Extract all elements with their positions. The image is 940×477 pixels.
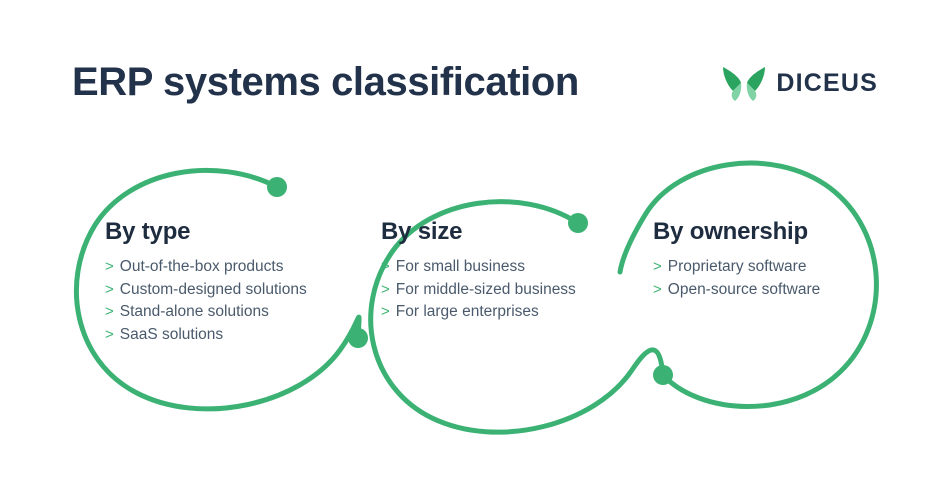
group-list-by-ownership: > Proprietary software > Open-source sof… [653, 256, 820, 301]
list-item-label: Custom-designed solutions [120, 279, 307, 302]
list-item: > Custom-designed solutions [105, 279, 307, 302]
list-item: > For small business [381, 256, 576, 279]
group-list-by-size: > For small business > For middle-sized … [381, 256, 576, 324]
list-item-label: SaaS solutions [120, 324, 223, 347]
group-by-ownership: By ownership > Proprietary software > Op… [653, 218, 820, 301]
list-item: > For middle-sized business [381, 279, 576, 302]
list-item-label: For small business [396, 256, 525, 279]
diceus-butterfly-mark [721, 63, 767, 103]
list-item: > Open-source software [653, 279, 820, 302]
chevron-right-icon: > [381, 279, 390, 302]
group-by-type: By type > Out-of-the-box products > Cust… [105, 218, 307, 346]
list-item-label: For large enterprises [396, 301, 539, 324]
chevron-right-icon: > [105, 279, 114, 302]
group-title-by-size: By size [381, 218, 576, 246]
list-item-label: Stand-alone solutions [120, 301, 269, 324]
list-item-label: Proprietary software [668, 256, 807, 279]
curve-endpoint-dot-1 [267, 177, 287, 197]
group-title-by-ownership: By ownership [653, 218, 820, 246]
list-item-label: Out-of-the-box products [120, 256, 284, 279]
chevron-right-icon: > [381, 301, 390, 324]
group-title-by-type: By type [105, 218, 307, 246]
chevron-right-icon: > [653, 279, 662, 302]
curve-endpoint-dot-2 [348, 328, 368, 348]
chevron-right-icon: > [105, 256, 114, 279]
page-title: ERP systems classification [72, 60, 579, 105]
list-item: > Out-of-the-box products [105, 256, 307, 279]
group-by-size: By size > For small business > For middl… [381, 218, 576, 324]
list-item: > For large enterprises [381, 301, 576, 324]
group-list-by-type: > Out-of-the-box products > Custom-desig… [105, 256, 307, 346]
diceus-logo: DICEUS [721, 62, 878, 104]
diceus-wordmark: DICEUS [776, 69, 878, 98]
chevron-right-icon: > [653, 256, 662, 279]
curve-endpoint-dot-4 [653, 365, 673, 385]
chevron-right-icon: > [105, 301, 114, 324]
chevron-right-icon: > [105, 324, 114, 347]
chevron-right-icon: > [381, 256, 390, 279]
list-item: > SaaS solutions [105, 324, 307, 347]
list-item: > Stand-alone solutions [105, 301, 307, 324]
list-item: > Proprietary software [653, 256, 820, 279]
infographic-card: ERP systems classification DICEUS By typ… [0, 0, 940, 477]
list-item-label: Open-source software [668, 279, 821, 302]
list-item-label: For middle-sized business [396, 279, 576, 302]
